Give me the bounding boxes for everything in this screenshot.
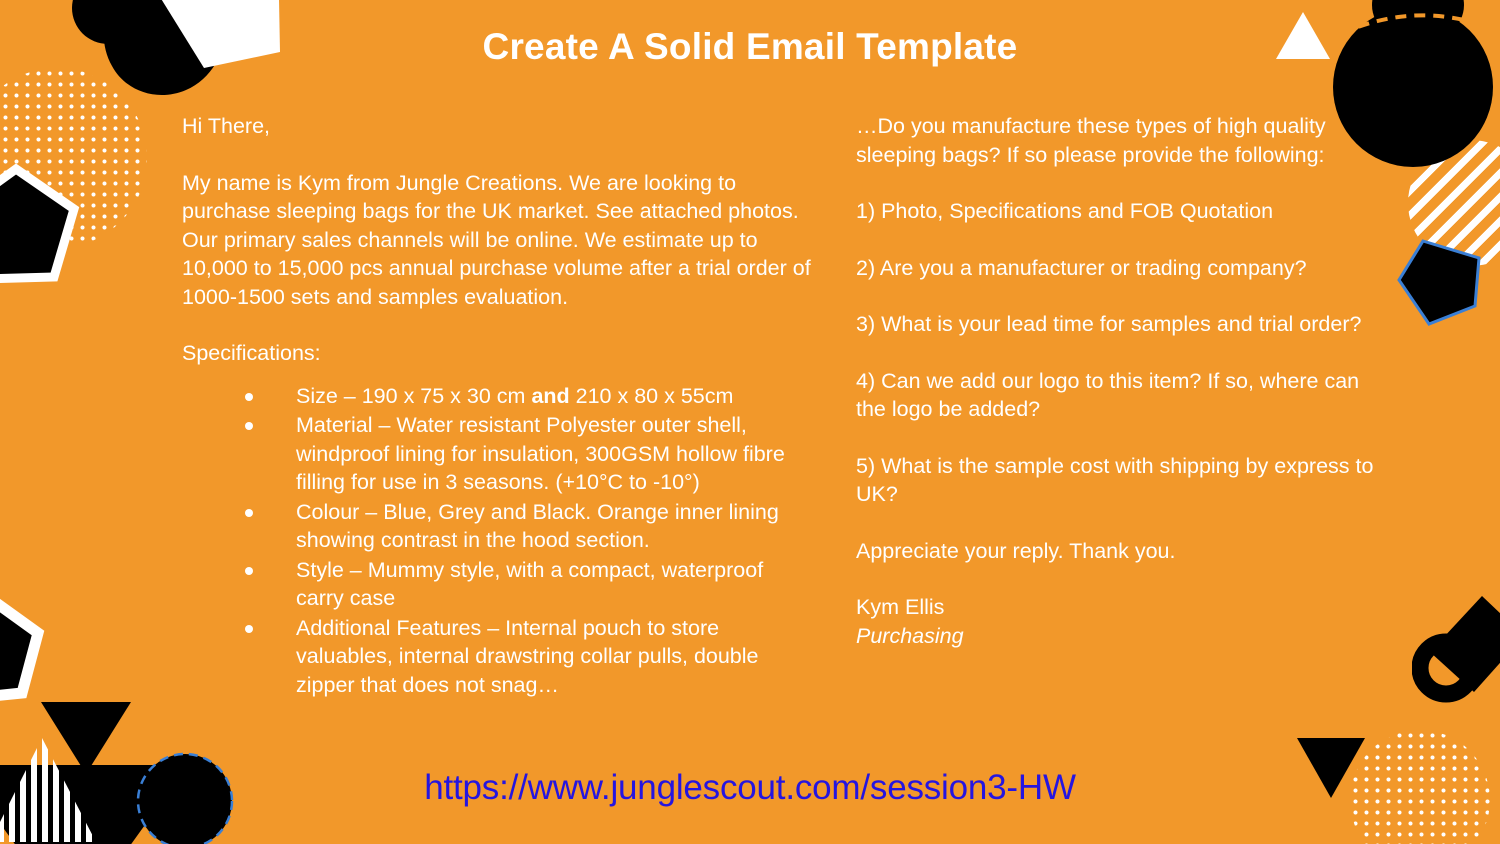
spec-text-bold: and <box>531 384 569 408</box>
right-column: …Do you manufacture these types of high … <box>856 112 1376 650</box>
specs-heading: Specifications: <box>182 339 814 368</box>
signature-name: Kym Ellis <box>856 593 1376 622</box>
spec-text-prefix: Size – 190 x 75 x 30 cm <box>296 384 531 408</box>
list-item: Additional Features – Internal pouch to … <box>182 614 814 700</box>
closing-text: Appreciate your reply. Thank you. <box>856 537 1376 566</box>
question-2: 2) Are you a manufacturer or trading com… <box>856 254 1376 283</box>
list-item: Material – Water resistant Polyester out… <box>182 411 814 497</box>
specifications-list: Size – 190 x 75 x 30 cm and 210 x 80 x 5… <box>182 382 814 700</box>
spec-text-suffix: 210 x 80 x 55cm <box>570 384 734 408</box>
lead-in-paragraph: …Do you manufacture these types of high … <box>856 112 1376 169</box>
greeting-text: Hi There, <box>182 112 814 141</box>
list-item: Colour – Blue, Grey and Black. Orange in… <box>182 498 814 555</box>
homework-link[interactable]: https://www.junglescout.com/session3-HW <box>0 768 1500 808</box>
question-5: 5) What is the sample cost with shipping… <box>856 452 1376 509</box>
question-3: 3) What is your lead time for samples an… <box>856 310 1376 339</box>
spec-text-prefix: Material – Water resistant Polyester out… <box>296 413 785 494</box>
spec-text-prefix: Colour – Blue, Grey and Black. Orange in… <box>296 500 779 553</box>
list-item: Style – Mummy style, with a compact, wat… <box>182 556 814 613</box>
question-1: 1) Photo, Specifications and FOB Quotati… <box>856 197 1376 226</box>
list-item: Size – 190 x 75 x 30 cm and 210 x 80 x 5… <box>182 382 814 411</box>
signature-role: Purchasing <box>856 622 1376 651</box>
question-4: 4) Can we add our logo to this item? If … <box>856 367 1376 424</box>
intro-paragraph: My name is Kym from Jungle Creations. We… <box>182 169 814 312</box>
signature-role-text: Purchasing <box>856 624 964 648</box>
page-title: Create A Solid Email Template <box>0 26 1500 68</box>
slide-canvas: Create A Solid Email Template Hi There, … <box>0 0 1500 844</box>
left-column: Hi There, My name is Kym from Jungle Cre… <box>182 112 814 700</box>
spec-text-prefix: Style – Mummy style, with a compact, wat… <box>296 558 763 611</box>
spec-text-prefix: Additional Features – Internal pouch to … <box>296 616 759 697</box>
